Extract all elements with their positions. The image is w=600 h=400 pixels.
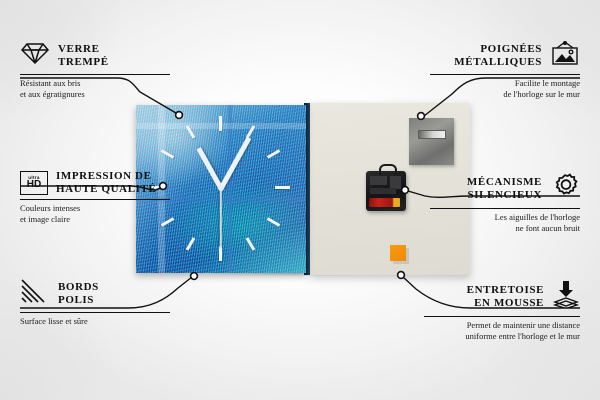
feature-title-line-2: MÉTALLIQUES xyxy=(454,56,542,69)
feature-title-line-1: ENTRETOISE xyxy=(467,284,544,297)
feature-rule xyxy=(424,316,580,317)
feature-title-line-1: POIGNÉES xyxy=(454,43,542,56)
picture-hanger-icon xyxy=(550,40,580,71)
feature-desc-line-1: Permet de maintenir une distance xyxy=(424,320,580,331)
feature-title-line-2: EN MOUSSE xyxy=(467,297,544,310)
infographic-canvas: VERRE TREMPÉ Résistant aux bris et aux é… xyxy=(0,0,600,400)
connector-dot-entretoise xyxy=(398,272,405,279)
feature-desc-line-1: Les aiguilles de l'horloge xyxy=(430,212,580,223)
connector-dot-poignees xyxy=(418,113,425,120)
feature-rule xyxy=(20,199,170,200)
feature-title-line-1: MÉCANISME xyxy=(467,176,542,189)
connector-dot-verre-trempe xyxy=(176,112,183,119)
polished-edge-icon xyxy=(20,278,50,309)
hd-icon-large-text: HD xyxy=(27,180,41,190)
foam-spacer-icon xyxy=(552,280,580,313)
feature-desc-line-2: ne font aucun bruit xyxy=(430,223,580,234)
feature-desc-line-2: uniforme entre l'horloge et le mur xyxy=(424,331,580,342)
feature-verre-trempe: VERRE TREMPÉ Résistant aux bris et aux é… xyxy=(20,40,170,100)
feature-desc-line-2: et aux égratignures xyxy=(20,89,170,100)
connector-dot-bords-polis xyxy=(191,273,198,280)
feature-title-line-1: BORDS xyxy=(58,281,99,294)
feature-title-line-1: VERRE xyxy=(58,43,109,56)
feature-title-line-2: SILENCIEUX xyxy=(467,189,542,202)
feature-mecanisme-silencieux: MÉCANISME SILENCIEUX Les aiguilles de l'… xyxy=(430,172,580,234)
feature-desc-line-2: de l'horloge sur le mur xyxy=(430,89,580,100)
feature-impression-haute-qualite: ultra HD IMPRESSION DE HAUTE QUALITÉ Cou… xyxy=(20,170,170,225)
feature-bords-polis: BORDS POLIS Surface lisse et sûre xyxy=(20,278,170,327)
feature-title-line-2: POLIS xyxy=(58,294,99,307)
feature-desc-line-1: Couleurs intenses xyxy=(20,203,170,214)
feature-rule xyxy=(20,312,170,313)
diamond-icon xyxy=(20,40,50,71)
feature-rule xyxy=(430,208,580,209)
feature-title-line-1: IMPRESSION DE xyxy=(56,170,156,183)
feature-title-line-2: HAUTE QUALITÉ xyxy=(56,183,156,196)
feature-desc-line-1: Facilite le montage xyxy=(430,78,580,89)
feature-rule xyxy=(430,74,580,75)
feature-entretoise-en-mousse: ENTRETOISE EN MOUSSE Permet de maintenir… xyxy=(424,280,580,342)
feature-title-line-2: TREMPÉ xyxy=(58,56,109,69)
ultra-hd-icon: ultra HD xyxy=(20,171,48,195)
feature-poignees-metalliques: POIGNÉES MÉTALLIQUES Facilite le montage… xyxy=(430,40,580,100)
feature-desc-line-2: et image claire xyxy=(20,214,170,225)
connector-dot-mecanisme xyxy=(402,187,409,194)
feature-desc-line-1: Surface lisse et sûre xyxy=(20,316,170,327)
gear-icon xyxy=(550,172,580,205)
feature-desc-line-1: Résistant aux bris xyxy=(20,78,170,89)
feature-rule xyxy=(20,74,170,75)
